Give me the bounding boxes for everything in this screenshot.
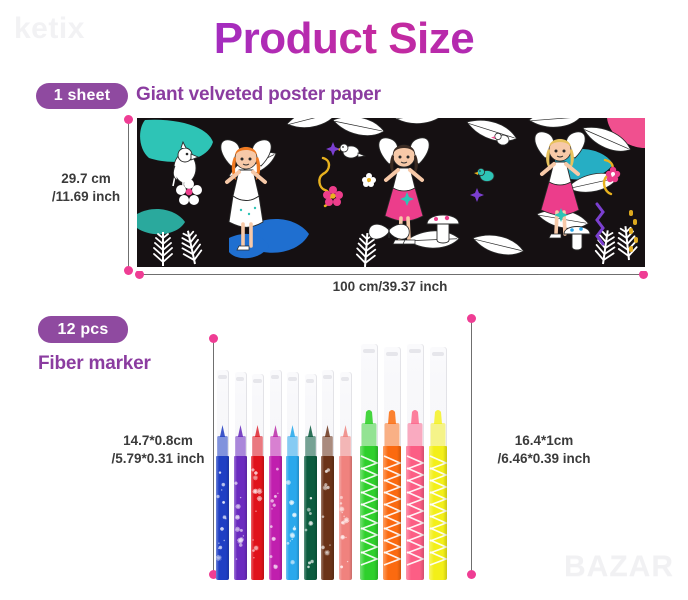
marker-star-pattern <box>339 456 352 580</box>
marker-tip <box>360 408 378 448</box>
thin-marker-purple <box>234 366 247 580</box>
marker-star-pattern <box>321 456 334 580</box>
badge-sheet-count: 1 sheet <box>36 83 128 109</box>
marker-body <box>429 446 447 580</box>
marker-grip-pattern <box>406 446 424 580</box>
watermark-bazar: BAZAR <box>564 550 674 584</box>
marker-tip <box>269 424 282 458</box>
marker-tip <box>304 424 317 458</box>
marker-body <box>286 456 299 580</box>
poster-width-dot-left <box>135 270 144 279</box>
marker-tip <box>339 424 352 458</box>
thick-marker-size-label: 16.4*1cm /6.46*0.39 inch <box>478 432 610 468</box>
marker-grip-pattern <box>429 446 447 580</box>
marker-grip-pattern <box>360 446 378 580</box>
marker-tip <box>406 408 424 448</box>
marker-tip <box>321 424 334 458</box>
poster-width-guide <box>140 274 644 275</box>
marker-tip <box>286 424 299 458</box>
markers-group <box>216 312 478 580</box>
marker-body <box>360 446 378 580</box>
thin-marker-red <box>251 366 264 580</box>
poster-height-dot-bottom <box>124 266 133 275</box>
thin-marker-brown <box>321 366 334 580</box>
marker-star-pattern <box>304 456 317 580</box>
marker-tip <box>383 408 401 448</box>
marker-body <box>321 456 334 580</box>
marker-star-pattern <box>269 456 282 580</box>
thick-marker-neon-green <box>360 342 378 580</box>
thin-marker-cyan <box>286 366 299 580</box>
marker-body <box>339 456 352 580</box>
marker-star-pattern <box>234 456 247 580</box>
poster-width-label: 100 cm/39.37 inch <box>300 278 480 296</box>
label-poster-paper: Giant velveted poster paper <box>136 84 381 106</box>
thick-marker-neon-orange <box>383 342 401 580</box>
marker-body <box>251 456 264 580</box>
thin-marker-blue <box>216 366 229 580</box>
badge-marker-count: 12 pcs <box>38 316 128 343</box>
poster-width-dot-right <box>639 270 648 279</box>
marker-star-pattern <box>251 456 264 580</box>
thick-marker-neon-yellow <box>429 342 447 580</box>
poster-height-label: 29.7 cm /11.69 inch <box>34 170 138 206</box>
marker-star-pattern <box>286 456 299 580</box>
poster-image <box>137 118 645 267</box>
marker-star-pattern <box>216 456 229 580</box>
marker-body <box>234 456 247 580</box>
page-title: Product Size <box>0 14 688 64</box>
thin-marker-pink <box>339 366 352 580</box>
poster-height-dot-top <box>124 115 133 124</box>
marker-tip <box>234 424 247 458</box>
marker-body <box>406 446 424 580</box>
thin-marker-dark-green <box>304 366 317 580</box>
marker-tip <box>429 408 447 448</box>
poster-artwork <box>137 118 645 267</box>
marker-body <box>383 446 401 580</box>
marker-grip-pattern <box>383 446 401 580</box>
marker-body <box>269 456 282 580</box>
label-fiber-marker: Fiber marker <box>38 353 151 375</box>
marker-tip <box>216 424 229 458</box>
thick-marker-neon-pink <box>406 342 424 580</box>
marker-body <box>304 456 317 580</box>
marker-body <box>216 456 229 580</box>
thin-marker-magenta <box>269 366 282 580</box>
thin-marker-size-label: 14.7*0.8cm /5.79*0.31 inch <box>92 432 224 468</box>
marker-tip <box>251 424 264 458</box>
